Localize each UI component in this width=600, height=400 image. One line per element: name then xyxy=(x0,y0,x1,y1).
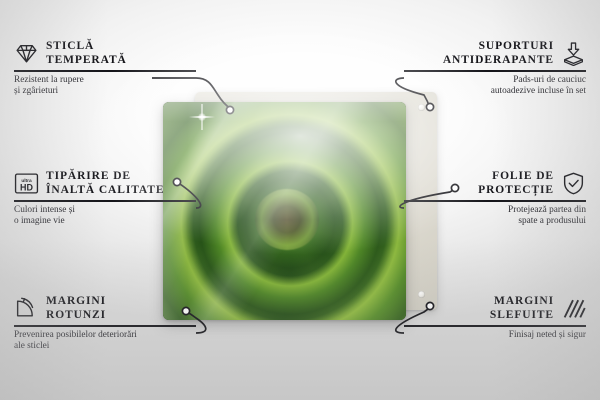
feature-title: STICLĂ TEMPERATĂ xyxy=(46,40,127,67)
feature-high-quality-print: ultra HD TIPĂRIRE DE ÎNALTĂ CALITATE Cul… xyxy=(14,170,209,228)
feature-title: MARGINI ROTUNZI xyxy=(46,295,106,322)
feature-title: FOLIE DE PROTECȚIE xyxy=(478,170,554,197)
feature-subtitle: Finisaj neted și sigur xyxy=(391,330,586,342)
feature-polished-edges: MARGINI SLEFUITE Finisaj neted și sigur xyxy=(391,295,586,341)
feature-rule xyxy=(14,70,196,72)
feature-subtitle: Protejează partea din spate a produsului xyxy=(391,205,586,228)
ultra-hd-icon: ultra HD xyxy=(14,171,39,196)
feature-title: MARGINI SLEFUITE xyxy=(490,295,554,322)
feature-tempered-glass: STICLĂ TEMPERATĂ Rezistent la rupere și … xyxy=(14,40,209,98)
feature-rule xyxy=(404,325,586,327)
feature-rule xyxy=(14,200,196,202)
feature-protective-film: FOLIE DE PROTECȚIE Protejează partea din… xyxy=(391,170,586,228)
feature-rounded-edges: MARGINI ROTUNZI Prevenirea posibilelor d… xyxy=(14,295,209,353)
shield-check-icon xyxy=(561,171,586,196)
hatch-lines-icon xyxy=(561,296,586,321)
feature-subtitle: Culori intense și o imagine vie xyxy=(14,205,209,228)
feature-title: TIPĂRIRE DE ÎNALTĂ CALITATE xyxy=(46,170,164,197)
feature-rule xyxy=(14,325,196,327)
feature-title: SUPORTURI ANTIDERAPANTE xyxy=(443,40,554,67)
rounded-corner-icon xyxy=(14,296,39,321)
feature-rule xyxy=(404,70,586,72)
feature-subtitle: Rezistent la rupere și zgârieturi xyxy=(14,75,209,98)
svg-text:HD: HD xyxy=(20,182,33,192)
anti-slip-pad-dot xyxy=(418,104,425,111)
infographic-stage: STICLĂ TEMPERATĂ Rezistent la rupere și … xyxy=(0,0,600,400)
feature-subtitle: Pads-uri de cauciuc autoadezive incluse … xyxy=(391,75,586,98)
feature-anti-slip-supports: SUPORTURI ANTIDERAPANTE Pads-uri de cauc… xyxy=(391,40,586,98)
feature-subtitle: Prevenirea posibilelor deteriorări ale s… xyxy=(14,330,209,353)
feature-rule xyxy=(404,200,586,202)
diamond-icon xyxy=(14,41,39,66)
anti-slip-pad-icon xyxy=(561,41,586,66)
